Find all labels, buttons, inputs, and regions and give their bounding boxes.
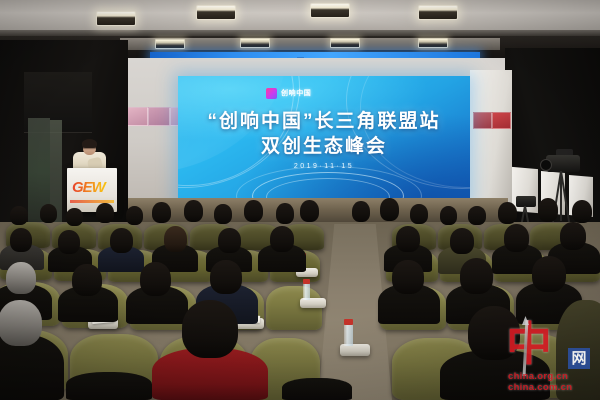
audience-head [10,206,28,225]
audience-head [210,260,242,294]
ceiling-light-7 [330,38,360,48]
wall-art-square-r4 [473,112,492,129]
ceiling-light-5 [155,39,185,49]
tripod-leg-3 [560,171,562,221]
audience-head [10,228,32,252]
audience-head [560,222,586,250]
watermark: 中 网 china.org.cn china.com.cn [498,318,598,396]
audience-head [214,204,232,224]
audience-head [66,208,83,226]
audience-head [0,300,42,346]
audience-head [410,204,428,224]
ceiling-light-1 [96,11,136,26]
watermark-url-line1: china.org.cn [508,371,598,382]
watermark-cn-character: 中 [506,322,552,366]
ceiling-light-4 [418,5,458,20]
projection-screen: 创响中国 “创响中国”长三角联盟站 双创生态峰会 2019·11·15 [178,76,470,204]
ceiling-light-3 [310,3,350,18]
audience-head [140,262,171,296]
camera-lens-icon [540,159,552,171]
audience-head [270,226,294,252]
audience-head [460,258,493,294]
audience-head [450,228,474,254]
bottle-cap [303,279,310,284]
screen-title-line2: 双创生态峰会 [178,131,470,158]
audience-head [164,226,187,252]
audience-head [96,203,114,223]
screen-brand-logo: 创响中国 [266,87,386,99]
ceiling-light-6 [240,38,270,48]
audience-head [396,226,420,252]
screen-title-line1: “创响中国”长三角联盟站 [178,106,470,133]
water-bottle [303,283,310,300]
audience-head [468,206,486,225]
audience-head [40,204,57,223]
watermark-url-line2: china.com.cn [508,382,598,393]
bottle-cap [344,319,353,325]
audience-head [538,198,558,222]
projection-screen-frame: 创响中国 “创响中国”长三角联盟站 双创生态峰会 2019·11·15 [178,76,470,204]
seat [266,286,322,330]
audience-head [276,203,294,224]
audience-head [244,200,263,222]
audience-head [352,201,370,222]
audience-head [182,300,238,358]
audience-head [126,206,143,225]
right-white-partition [470,70,512,210]
audience-head [152,202,171,223]
wall-art-square-r5 [492,112,511,129]
audience-head [392,260,424,294]
audience-head [6,262,36,294]
audience-head [110,228,133,253]
ceiling-light-2 [196,5,236,20]
audience-shoulders [66,372,152,400]
audience-head [218,228,241,253]
wall-art-square-l2 [126,107,148,126]
ceiling [0,0,600,32]
audience-head [532,256,566,292]
water-bottle [344,324,353,346]
audience-head [498,202,517,224]
watermark-net-character: 网 [568,348,590,369]
audience-head [440,206,457,225]
wall-art-square-l3 [148,107,170,126]
screen-logo-text: 创响中国 [281,88,311,98]
audience-head [184,200,203,222]
speaker-hair [82,139,97,148]
audience-head [300,200,319,222]
brand-mark-icon [266,88,277,99]
audience-head [504,224,529,252]
conference-photo: 创响中国 “创响中国”长三角联盟站 双创生态峰会 2019·11·15 GEW [0,0,600,400]
screen-date: 2019·11·15 [178,163,470,170]
audience-head [572,200,592,223]
audience-head [72,264,102,296]
audience-head [58,230,80,254]
ceiling-light-8 [418,38,448,48]
audience-head [380,198,399,221]
podium-logo-text: GEW [72,180,112,196]
audience-shoulders [282,378,352,400]
